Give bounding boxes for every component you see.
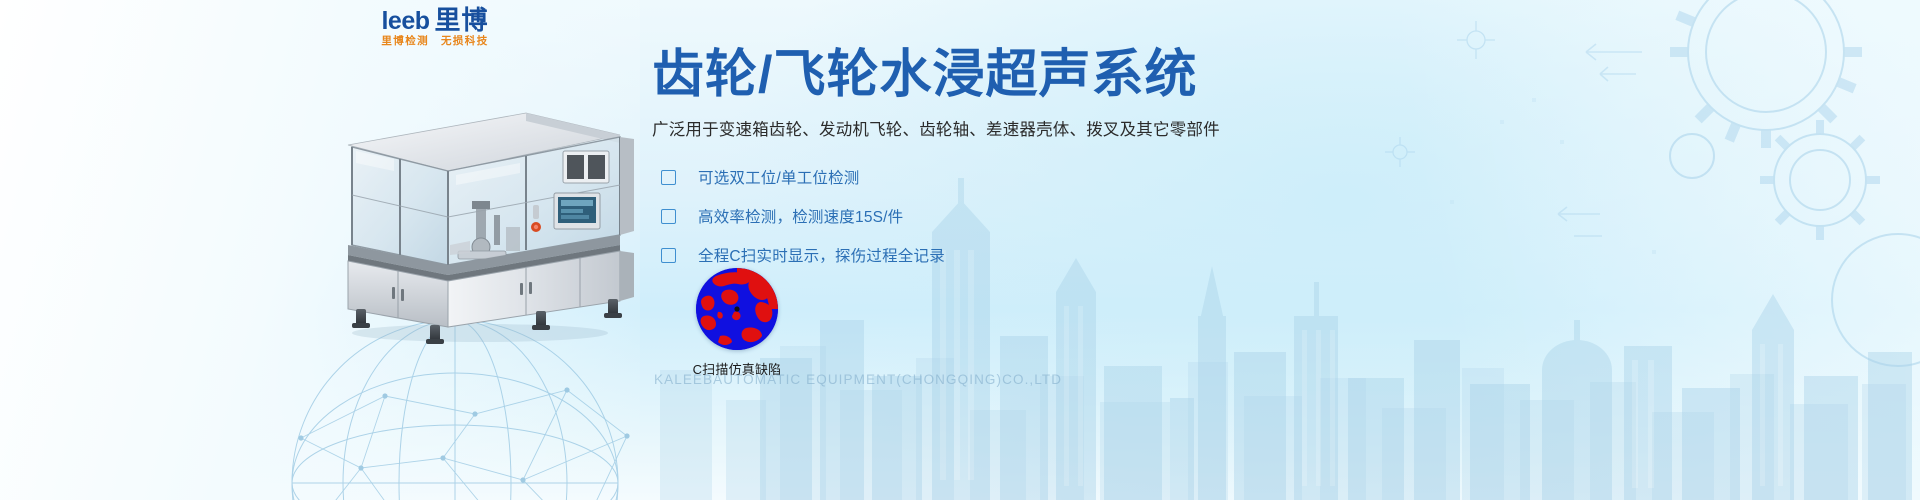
cscan-sample: C扫描仿真缺陷 bbox=[672, 268, 802, 378]
list-item: 可选双工位/单工位检测 bbox=[652, 160, 1272, 194]
logo-tagline-left-text: 里博检测 bbox=[381, 35, 429, 47]
list-item: 全程C扫实时显示，探伤过程全记录 bbox=[652, 238, 1272, 272]
company-watermark: KALEEBAUTOMATIC EQUIPMENT(CHONGQING)CO.,… bbox=[654, 372, 1062, 387]
ultrasonic-immersion-machine-photo bbox=[330, 95, 640, 345]
logo-wordmark: leeb里博 bbox=[345, 6, 525, 35]
logo-latin-text: leeb bbox=[381, 7, 429, 35]
cscan-defect-map-image bbox=[696, 268, 778, 350]
list-item: 高效率检测，检测速度15S/件 bbox=[652, 199, 1272, 233]
page-title: 齿轮/飞轮水浸超声系统 bbox=[652, 46, 1272, 104]
feature-label: 高效率检测，检测速度15S/件 bbox=[698, 205, 903, 227]
hero-subtitle: 广泛用于变速箱齿轮、发动机飞轮、齿轮轴、差速器壳体、拨叉及其它零部件 bbox=[652, 118, 1272, 142]
globe-wireframe-decoration bbox=[175, 318, 735, 500]
checkbox-empty-icon bbox=[661, 170, 676, 185]
hero-content: 齿轮/飞轮水浸超声系统 广泛用于变速箱齿轮、发动机飞轮、齿轮轴、差速器壳体、拨叉… bbox=[652, 46, 1272, 277]
tech-gear-decoration bbox=[1300, 0, 1920, 420]
company-logo: leeb里博 里博检测无损科技 bbox=[345, 6, 525, 52]
logo-chinese-text: 里博 bbox=[435, 5, 489, 35]
feature-label: 可选双工位/单工位检测 bbox=[698, 166, 860, 188]
logo-tagline-right-text: 无损科技 bbox=[441, 35, 489, 47]
gear-icon-group bbox=[1670, 0, 1905, 265]
checkbox-empty-icon bbox=[661, 248, 676, 263]
feature-list: 可选双工位/单工位检测 高效率检测，检测速度15S/件 全程C扫实时显示，探伤过… bbox=[652, 160, 1272, 272]
cscan-defect-shapes bbox=[696, 268, 778, 350]
feature-label: 全程C扫实时显示，探伤过程全记录 bbox=[698, 244, 945, 266]
checkbox-empty-icon bbox=[661, 209, 676, 224]
promo-banner: leeb里博 里博检测无损科技 bbox=[0, 0, 1920, 500]
logo-tagline: 里博检测无损科技 bbox=[345, 35, 525, 48]
